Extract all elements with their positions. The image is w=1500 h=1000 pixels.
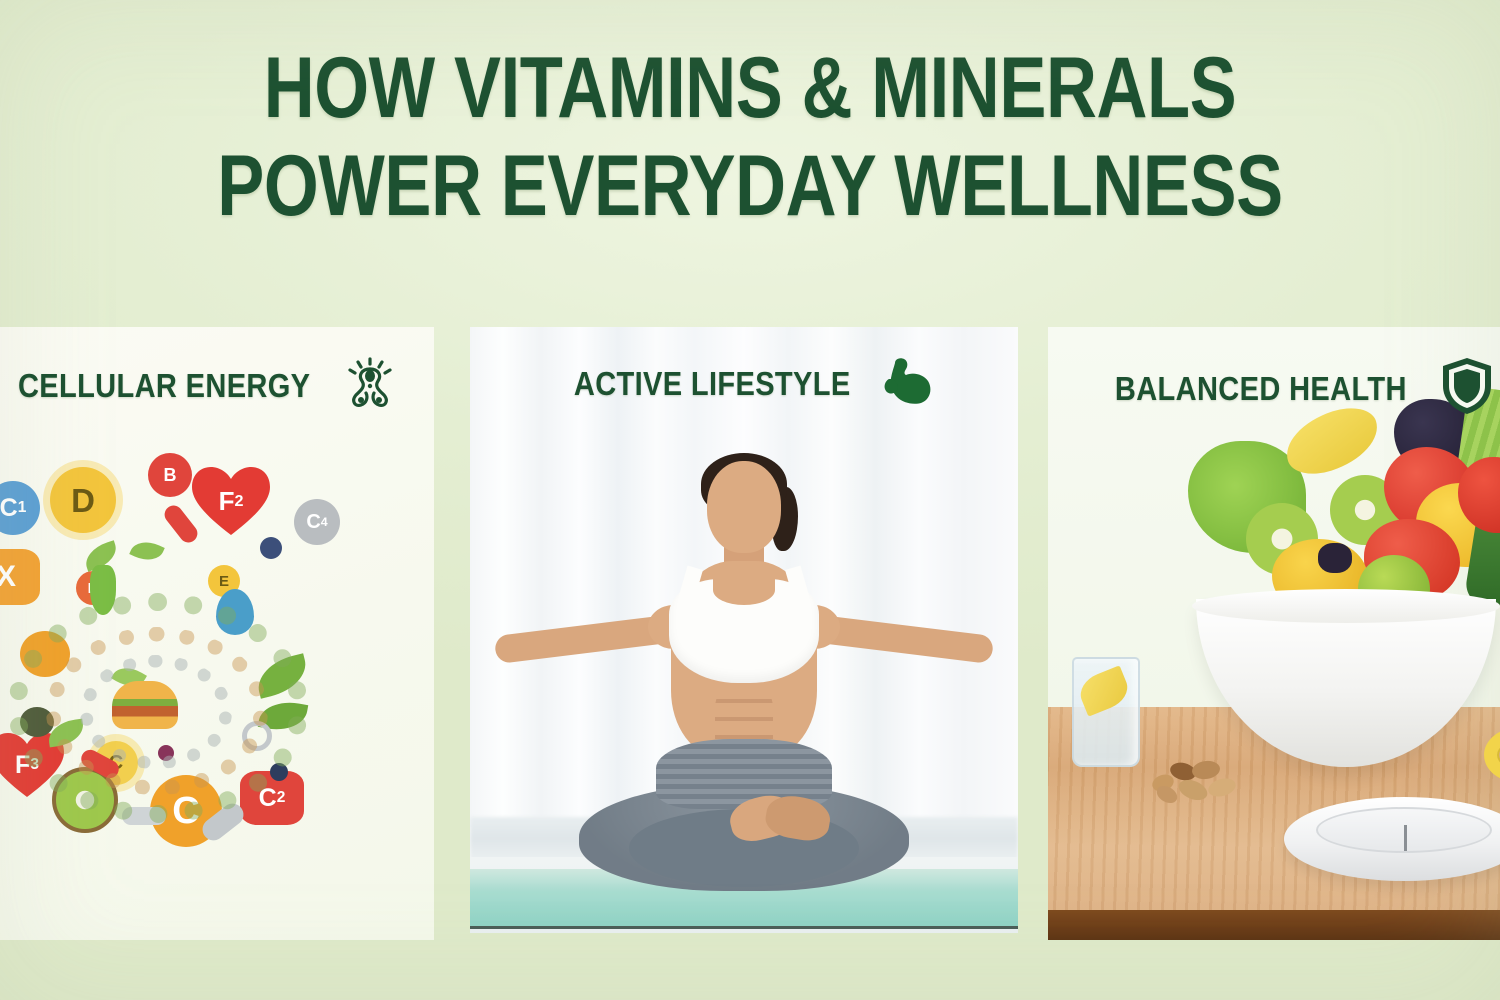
yoga-woman-figure [484, 417, 1004, 887]
vitamin-token-x: X [0, 549, 40, 605]
panel-balanced-health-label: BALANCED HEALTH [1115, 370, 1407, 408]
panel-balanced-health: BALANCED HEALTH [1048, 327, 1500, 940]
vitamin-spiral-illustration: C1 D B F2 X C4 F3 C C C2 K E [0, 445, 434, 940]
vitamin-token-d: D [50, 467, 116, 533]
panel-cellular-energy-label: CELLULAR ENERGY [18, 367, 310, 405]
almond [1206, 775, 1238, 799]
almond [1191, 759, 1221, 781]
title-line-2: POWER EVERYDAY WELLNESS [135, 144, 1365, 228]
vitamin-token-b-apple: B [148, 453, 192, 497]
blueberry-decoration [260, 537, 282, 559]
bowl-rim [1192, 589, 1500, 623]
blackberry [1318, 543, 1352, 573]
panel-active-lifestyle-header: ACTIVE LIFESTYLE [470, 357, 1018, 410]
scale-needle [1404, 825, 1407, 851]
cell-mitochondria-icon [344, 355, 396, 416]
burger-center-icon [112, 681, 178, 729]
panel-cellular-energy: CELLULAR ENERGY C1 [0, 327, 434, 940]
scale-dial [1316, 807, 1492, 853]
title-line-1: HOW VITAMINS & MINERALS [135, 46, 1365, 130]
shield-icon [1441, 357, 1493, 420]
vitamin-token-c4: C4 [294, 499, 340, 545]
head [707, 461, 781, 553]
vitamin-token-c1: C1 [0, 481, 40, 535]
panel-active-lifestyle: ACTIVE LIFESTYLE [470, 327, 1018, 933]
flexed-bicep-icon [883, 357, 933, 410]
almond [1176, 776, 1211, 804]
produce-pile [1188, 387, 1500, 622]
lemon-slice [1075, 665, 1133, 716]
page-title: HOW VITAMINS & MINERALS POWER EVERYDAY W… [0, 46, 1500, 229]
leaf-decoration [129, 536, 165, 566]
almonds-pile [1152, 759, 1256, 805]
yoga-studio-photo [470, 327, 1018, 933]
panel-cellular-energy-header: CELLULAR ENERGY [0, 355, 434, 416]
panel-balanced-health-header: BALANCED HEALTH [1048, 357, 1500, 420]
panel-active-lifestyle-label: ACTIVE LIFESTYLE [574, 365, 851, 403]
table-edge [1048, 910, 1500, 940]
glass-of-lemon-water [1072, 657, 1140, 767]
vitamin-token-f2-heart: F2 [192, 465, 270, 537]
capsule-icon [161, 502, 201, 546]
panels-row: CELLULAR ENERGY C1 [0, 327, 1500, 942]
